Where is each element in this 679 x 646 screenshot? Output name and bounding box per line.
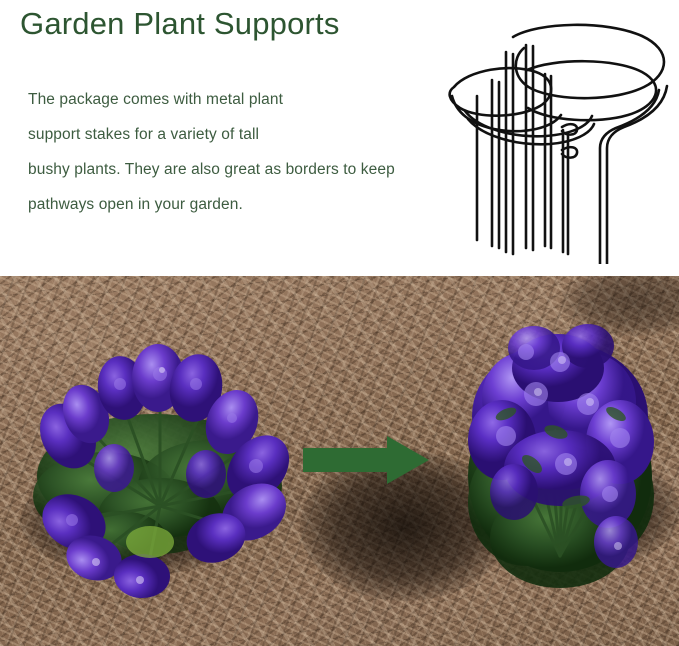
before-after-arrow [303, 436, 429, 484]
arrow-right-icon [303, 436, 429, 484]
right-plant-graphic [440, 306, 679, 606]
product-infographic-page: Garden Plant Supports The package comes … [0, 0, 679, 646]
supported-upright-plant [440, 306, 679, 606]
plant-support-icon [420, 8, 679, 264]
before-after-photo [0, 276, 679, 646]
plant-support-illustration [420, 8, 679, 264]
left-plant-graphic [10, 326, 300, 616]
info-panel: Garden Plant Supports The package comes … [0, 0, 679, 276]
unsupported-sprawling-plant [10, 326, 300, 616]
page-title: Garden Plant Supports [20, 4, 340, 44]
